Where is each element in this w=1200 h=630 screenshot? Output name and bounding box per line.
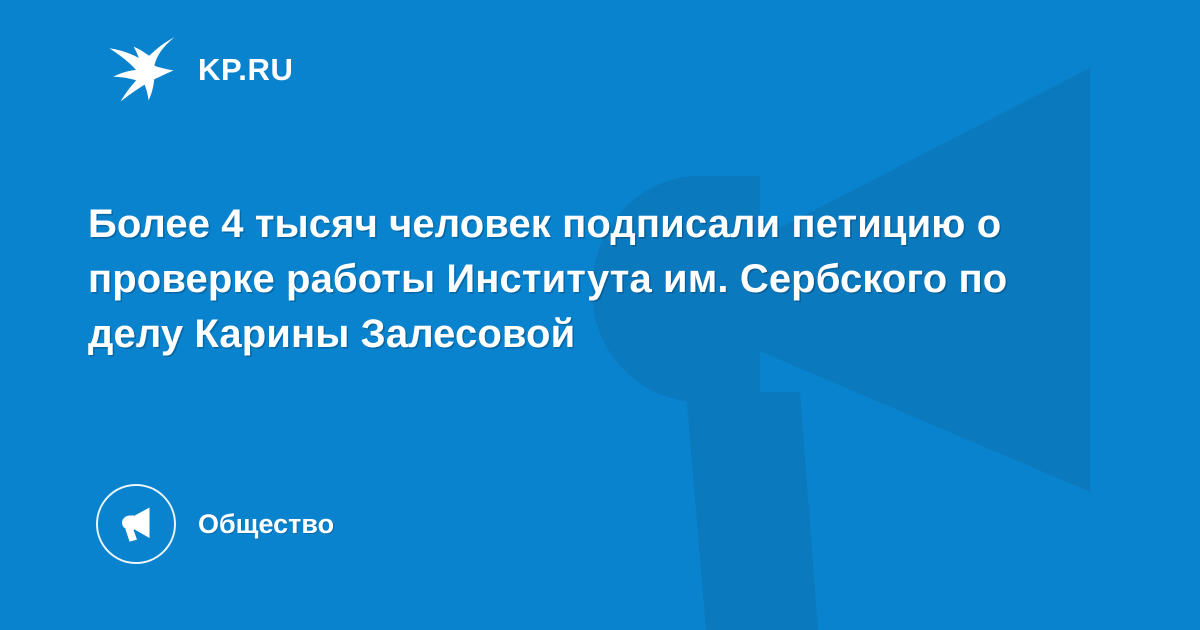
category-icon-circle (96, 484, 176, 564)
brand-header[interactable]: KP.RU (104, 36, 293, 102)
megaphone-icon (113, 501, 159, 547)
social-share-card: KP.RU Более 4 тысяч человек подписали пе… (0, 0, 1200, 630)
swallow-bird-logo-icon (104, 36, 178, 102)
brand-name: KP.RU (198, 54, 293, 85)
page-title: Более 4 тысяч человек подписали петицию … (88, 197, 1088, 362)
category-badge[interactable]: Общество (96, 484, 334, 564)
category-label: Общество (198, 511, 334, 538)
